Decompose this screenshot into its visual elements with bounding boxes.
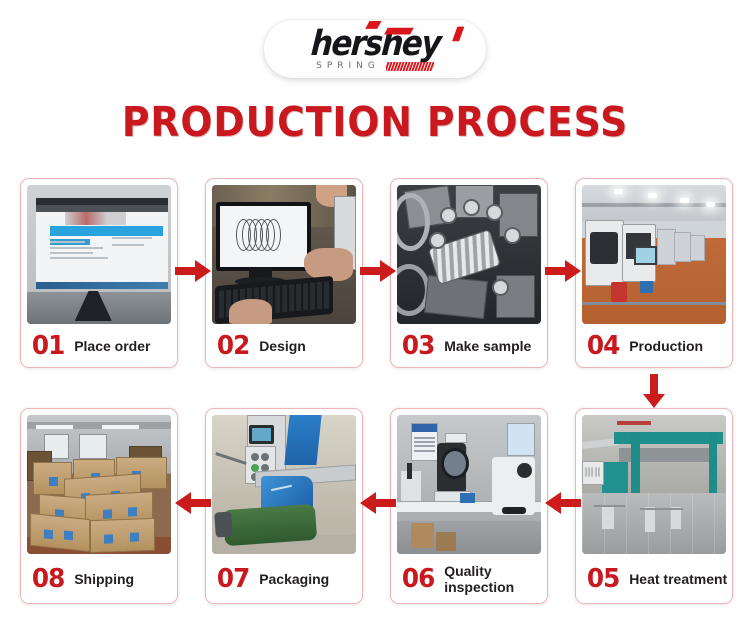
step-image-05 <box>582 415 726 554</box>
process-row-top: 01 Place order <box>0 178 750 374</box>
step-number-04: 04 <box>587 333 619 359</box>
step-card-05[interactable]: 05 Heat treatment <box>575 408 733 604</box>
arrow-left-icon-1 <box>175 490 211 516</box>
step-label-04: 04 Production <box>576 324 732 368</box>
step-card-02[interactable]: 02 Design <box>205 178 363 368</box>
arrow-right-icon-1 <box>175 258 211 284</box>
arrow-right-icon-3 <box>545 258 581 284</box>
step-label-08: 08 Shipping <box>21 554 177 604</box>
logo-pill: hershey SPRING <box>264 20 486 78</box>
step-number-07: 07 <box>217 566 249 592</box>
brand-wordmark: hershey <box>309 27 440 62</box>
step-number-01: 01 <box>32 333 64 359</box>
arrow-down-icon <box>641 374 667 408</box>
step-text-06: Quality inspection <box>444 563 532 595</box>
step-text-04: Production <box>629 338 703 354</box>
step-label-05: 05 Heat treatment <box>576 554 732 604</box>
arrow-right-icon-2 <box>360 258 396 284</box>
step-card-07[interactable]: 07 Packaging <box>205 408 363 604</box>
step-image-01 <box>27 185 171 324</box>
brand-logo: hershey SPRING <box>0 20 750 78</box>
step-number-05: 05 <box>587 566 619 592</box>
spring-coil-icon <box>386 62 434 71</box>
step-text-02: Design <box>259 338 306 354</box>
step-label-01: 01 Place order <box>21 324 177 368</box>
step-card-04[interactable]: 04 Production <box>575 178 733 368</box>
step-number-03: 03 <box>402 333 434 359</box>
step-label-03: 03 Make sample <box>391 324 547 368</box>
step-text-05: Heat treatment <box>629 571 727 587</box>
arrow-left-icon-3 <box>545 490 581 516</box>
step-label-02: 02 Design <box>206 324 362 368</box>
step-text-08: Shipping <box>74 571 134 587</box>
step-image-03 <box>397 185 541 324</box>
step-number-02: 02 <box>217 333 249 359</box>
step-number-08: 08 <box>32 566 64 592</box>
step-image-02 <box>212 185 356 324</box>
step-card-06[interactable]: 06 Quality inspection <box>390 408 548 604</box>
step-label-06: 06 Quality inspection <box>391 554 547 604</box>
step-card-03[interactable]: 03 Make sample <box>390 178 548 368</box>
arrow-left-icon-2 <box>360 490 396 516</box>
step-text-07: Packaging <box>259 571 329 587</box>
step-image-06 <box>397 415 541 554</box>
step-card-08[interactable]: 08 Shipping <box>20 408 178 604</box>
step-label-07: 07 Packaging <box>206 554 362 604</box>
page-title: PRODUCTION PROCESS <box>30 98 720 146</box>
step-number-06: 06 <box>402 566 434 592</box>
step-text-03: Make sample <box>444 338 531 354</box>
step-card-01[interactable]: 01 Place order <box>20 178 178 368</box>
step-image-07 <box>212 415 356 554</box>
step-text-01: Place order <box>74 338 150 354</box>
process-row-bottom: 08 Shipping <box>0 408 750 608</box>
step-image-08 <box>27 415 171 554</box>
step-image-04 <box>582 185 726 324</box>
